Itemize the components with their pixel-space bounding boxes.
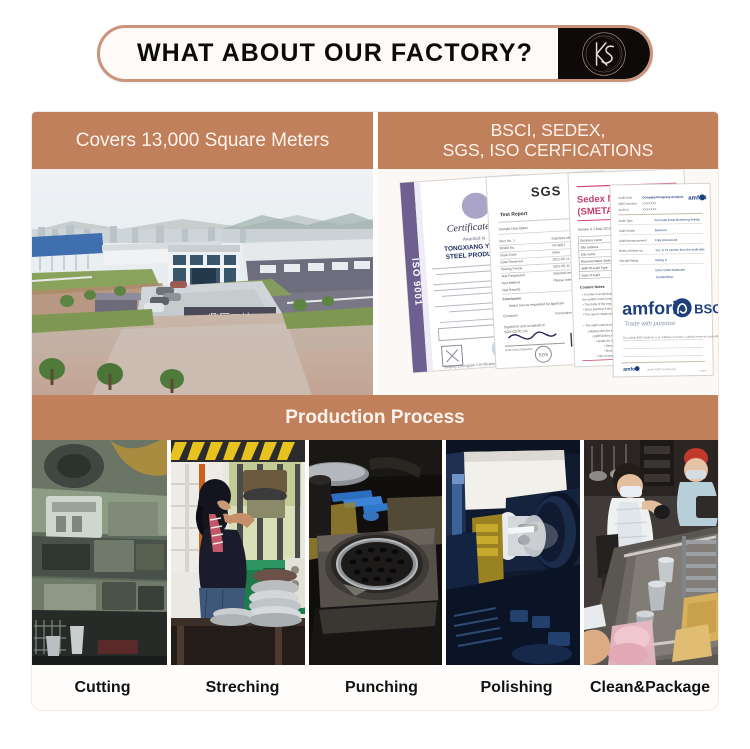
top-panels: Covers 13,000 Square Meters	[32, 112, 718, 395]
factory-content-card: Covers 13,000 Square Meters	[32, 112, 718, 710]
brand-logo-container	[558, 28, 650, 79]
svg-text:YH-0001: YH-0001	[552, 243, 566, 248]
svg-text:XXXXXXX: XXXXXXX	[642, 201, 656, 205]
svg-text:Fully Announced: Fully Announced	[655, 238, 678, 242]
factory-infographic-page: WHAT ABOUT OUR FACTORY? Covers 1	[0, 0, 750, 749]
caption-polishing: Polishing	[451, 679, 582, 697]
svg-text:Business: Business	[655, 228, 668, 232]
svg-text:amfori BSCI Audit Report: amfori BSCI Audit Report	[647, 367, 676, 372]
svg-text:DBID Number: DBID Number	[618, 202, 637, 206]
clean-package-assembly-line-photo	[584, 440, 718, 665]
svg-text:XXXXXXX: XXXXXXX	[642, 207, 656, 211]
svg-text:Site address: Site address	[581, 245, 599, 250]
svg-text:Company/Company Analysis: Company/Company Analysis	[642, 195, 684, 200]
svg-text:SGS: SGS	[538, 352, 548, 357]
svg-text:Need of follow-up: Need of follow-up	[619, 248, 643, 252]
svg-text:Overall Rating: Overall Rating	[619, 259, 638, 263]
svg-text:Page 1: Page 1	[699, 368, 708, 372]
svg-text:Date of Audit: Date of Audit	[582, 273, 600, 278]
caption-punching: Punching	[312, 679, 451, 697]
factory-size-panel: Covers 13,000 Square Meters	[32, 112, 373, 395]
page-title: WHAT ABOUT OUR FACTORY?	[100, 39, 558, 68]
certifications-panel: BSCI, SEDEX, SGS, ISO CERFICATIONS ISO	[378, 112, 718, 395]
page-title-banner: WHAT ABOUT OUR FACTORY?	[97, 25, 653, 82]
factory-size-heading: Covers 13,000 Square Meters	[32, 112, 373, 169]
svg-text:Business name: Business name	[580, 238, 602, 243]
caption-clean-package: Clean&Package	[582, 679, 718, 697]
svg-text:Content Notes: Content Notes	[580, 285, 605, 290]
certificates-fan-photo: ISO 9001 Certificate of Awarded to TONGX…	[378, 169, 718, 395]
title-pill: WHAT ABOUT OUR FACTORY?	[97, 25, 653, 82]
svg-text:Rating C: Rating C	[655, 258, 668, 262]
production-process-banner: Production Process	[32, 395, 718, 440]
svg-text:Silver: Silver	[552, 250, 562, 254]
certifications-heading: BSCI, SEDEX, SGS, ISO CERFICATIONS	[378, 112, 718, 169]
svg-text:BSCI: BSCI	[694, 301, 718, 317]
production-photo-row	[32, 440, 718, 665]
svg-text:Yes/No/Other: Yes/No/Other	[656, 275, 674, 279]
svg-text:Item No. 1: Item No. 1	[499, 239, 515, 244]
punching-perforated-disc-photo	[309, 440, 442, 665]
svg-text:Full Audit Initial Monitoring: Full Audit Initial Monitoring Activity	[655, 217, 701, 222]
svg-text:Trade with purpose: Trade with purpose	[624, 321, 676, 328]
svg-text:Audit Id: Audit Id	[618, 208, 629, 212]
factory-aerial-photo: 鼎厨工坊	[32, 169, 373, 395]
svg-text:Audit Announcement: Audit Announcement	[619, 238, 647, 242]
production-captions-row: Cutting Streching Punching Polishing Cle…	[32, 665, 718, 710]
cutting-press-machine-photo	[32, 440, 167, 665]
caption-streching: Streching	[173, 679, 312, 697]
stretching-worker-press-photo	[171, 440, 304, 665]
svg-text:Does Code Statement: Does Code Statement	[655, 268, 685, 273]
ks-monogram-logo-icon	[576, 28, 632, 80]
polishing-buffing-wheel-photo	[446, 440, 579, 665]
svg-text:Audit Type: Audit Type	[619, 219, 634, 223]
certifications-heading-line1: BSCI, SEDEX,	[443, 121, 654, 141]
svg-text:Site name: Site name	[581, 252, 596, 257]
svg-text:SGS: SGS	[530, 183, 561, 200]
svg-text:Model No.: Model No.	[500, 246, 516, 251]
svg-text:Comment: Comment	[503, 314, 518, 319]
caption-cutting: Cutting	[32, 679, 173, 697]
svg-text:amfori: amfori	[622, 298, 677, 319]
svg-text:Audit Date: Audit Date	[618, 196, 632, 200]
svg-text:Audit Scope: Audit Scope	[619, 229, 636, 233]
certifications-heading-line2: SGS, ISO CERFICATIONS	[443, 141, 654, 161]
